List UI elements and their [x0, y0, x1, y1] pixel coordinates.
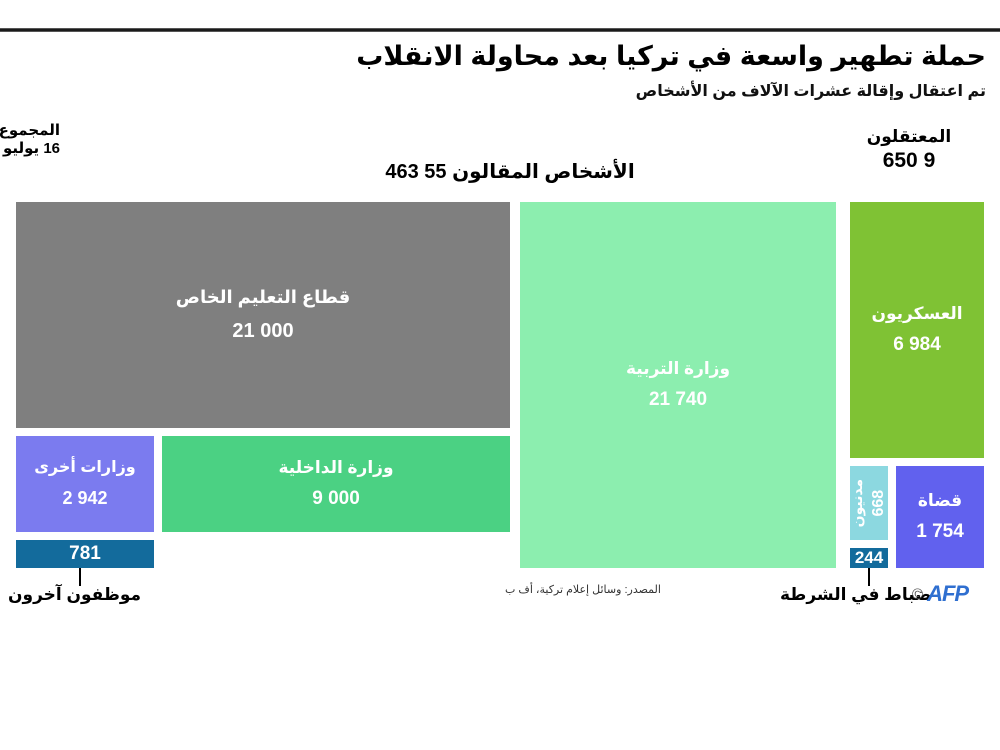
treemap-cell-interior-ministry: وزارة الداخلية 9 000 [160, 434, 512, 534]
cell-label: مدنيون [849, 479, 867, 527]
afp-wordmark: AFP [927, 581, 968, 607]
cell-label: قطاع التعليم الخاص [176, 286, 351, 309]
cell-label: وزارة التربية [626, 358, 730, 379]
cell-label: وزارة الداخلية [278, 457, 393, 478]
treemap-cell-judges: قضاة 1 754 [894, 464, 986, 570]
cell-value: 1 754 [916, 520, 964, 545]
cell-value: 2 942 [62, 487, 107, 510]
infographic-page: حملة تطهير واسعة في تركيا بعد محاولة الا… [0, 0, 1000, 750]
treemap-cell-other-ministries: وزارات أخرى 2 942 [14, 434, 156, 534]
treemap: قطاع التعليم الخاص 21 000 وزارات أخرى 2 … [0, 196, 1000, 574]
leader-line-police [868, 568, 870, 586]
column-header-detained-label: المعتقلون [867, 127, 952, 146]
treemap-cell-private-education: قطاع التعليم الخاص 21 000 [14, 200, 512, 430]
cell-label: وزارات أخرى [34, 458, 136, 478]
copyright-icon: © [912, 586, 923, 603]
cell-label: قضاة [918, 490, 962, 511]
cell-value: 21 000 [232, 318, 293, 344]
cell-rotated-text: مدنيون 668 [849, 479, 889, 527]
column-header-total-line1: المجموع منذ [0, 122, 60, 140]
column-header-total: المجموع منذ 16 يوليو [0, 122, 60, 159]
page-subtitle: تم اعتقال وإقالة عشرات الآلاف من الأشخاص [26, 82, 986, 103]
top-divider [0, 28, 1000, 32]
treemap-cell-education-ministry: وزارة التربية 21 740 [518, 200, 838, 570]
treemap-cell-civilians: مدنيون 668 [848, 464, 890, 542]
callout-other-staff: موظفون آخرون [8, 585, 141, 605]
cell-value: 21 740 [649, 388, 707, 413]
treemap-cell-other-staff: 781 [14, 538, 156, 570]
cell-value: 9 000 [312, 487, 360, 512]
cell-value: 244 [855, 547, 883, 569]
treemap-cell-police: 244 [848, 546, 890, 570]
page-title: حملة تطهير واسعة في تركيا بعد محاولة الا… [26, 40, 986, 74]
leader-line-other-staff [79, 568, 81, 586]
source-note: المصدر: وسائل إعلام تركية، أف ب [505, 583, 661, 596]
treemap-cell-military: العسكريون 6 984 [848, 200, 986, 460]
cell-label: العسكريون [871, 303, 962, 324]
column-header-detained-value: 9 650 [824, 148, 994, 175]
column-header-dismissed: الأشخاص المقالون 55 463 [320, 160, 700, 184]
callout-police-officers: ضباط في الشرطة [780, 585, 932, 605]
cell-value: 668 [868, 490, 889, 517]
cell-value: 6 984 [893, 333, 941, 358]
cell-value: 781 [69, 542, 101, 567]
column-header-detained: المعتقلون 9 650 [824, 126, 994, 175]
column-header-total-line2: 16 يوليو [0, 140, 60, 158]
afp-logo: © AFP [912, 581, 968, 607]
